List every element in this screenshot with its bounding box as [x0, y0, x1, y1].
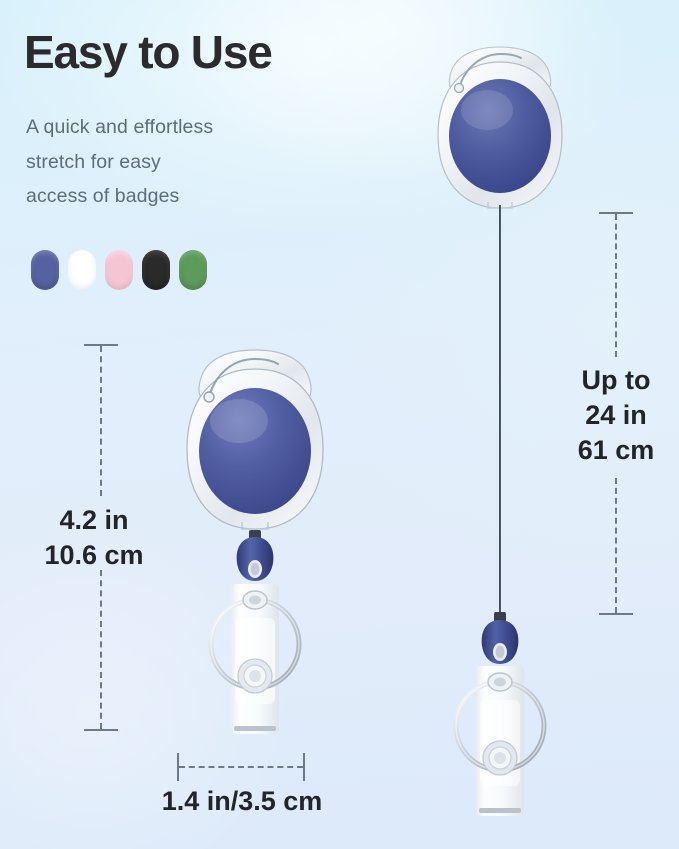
color-swatch-black[interactable] [142, 250, 170, 290]
reel-face-highlight [461, 90, 513, 130]
badge-reel-retracted-head [172, 335, 337, 545]
reel-face-highlight [210, 399, 268, 443]
clip-retracted-svg [194, 566, 316, 746]
height-dimension-label: 4.2 in 10.6 cm [24, 503, 164, 573]
carabiner-gate-pivot [455, 84, 464, 93]
length-dim-cap-bottom [599, 613, 633, 615]
height-label-line-2: 10.6 cm [24, 538, 164, 573]
badge-reel-extended-head [425, 30, 575, 220]
length-dimension-label: Up to 24 in 61 cm [560, 363, 672, 468]
badge-clip-retracted [194, 566, 316, 746]
subtitle-line-3: access of badges [26, 179, 306, 214]
clip-extended-svg [439, 648, 561, 828]
clip-rivet-inner [494, 752, 506, 764]
length-dim-line-upper [615, 214, 617, 357]
width-label-line-1: 1.4 in/3.5 cm [152, 784, 332, 819]
color-swatch-green[interactable] [179, 250, 207, 290]
length-label-line-3: 61 cm [560, 433, 672, 468]
subtitle-line-1: A quick and effortless [26, 110, 306, 145]
height-dim-line-lower [100, 570, 102, 729]
carabiner-gate-pivot [204, 392, 214, 402]
badge-clip-extended [439, 648, 561, 828]
infographic-canvas: Easy to Use A quick and effortless stret… [0, 0, 679, 849]
clip-rivet-inner [249, 670, 261, 682]
page-title: Easy to Use [24, 29, 272, 75]
retractable-cord-extended [499, 205, 501, 622]
length-dim-line-lower [615, 478, 617, 613]
badge-clip-jaw [479, 808, 521, 813]
clip-grommet-hole [494, 678, 506, 687]
color-swatch-navy-blue[interactable] [31, 250, 59, 290]
color-swatch-row [31, 250, 207, 290]
length-label-line-1: Up to [560, 363, 672, 398]
page-subtitle: A quick and effortless stretch for easy … [26, 110, 306, 214]
height-label-line-1: 4.2 in [24, 503, 164, 538]
height-dim-line-upper [100, 346, 102, 496]
subtitle-line-2: stretch for easy [26, 145, 306, 180]
width-dimension-label: 1.4 in/3.5 cm [152, 784, 332, 819]
reel-extended-svg [425, 30, 575, 220]
width-dim-line [179, 766, 303, 768]
width-dim-cap-right [303, 753, 305, 781]
clip-grommet-hole [249, 596, 261, 605]
length-label-line-2: 24 in [560, 398, 672, 433]
color-swatch-pink[interactable] [105, 250, 133, 290]
badge-clip-jaw [234, 726, 276, 731]
reel-retracted-svg [172, 335, 337, 545]
height-dim-cap-bottom [84, 729, 118, 731]
color-swatch-white[interactable] [68, 250, 96, 290]
